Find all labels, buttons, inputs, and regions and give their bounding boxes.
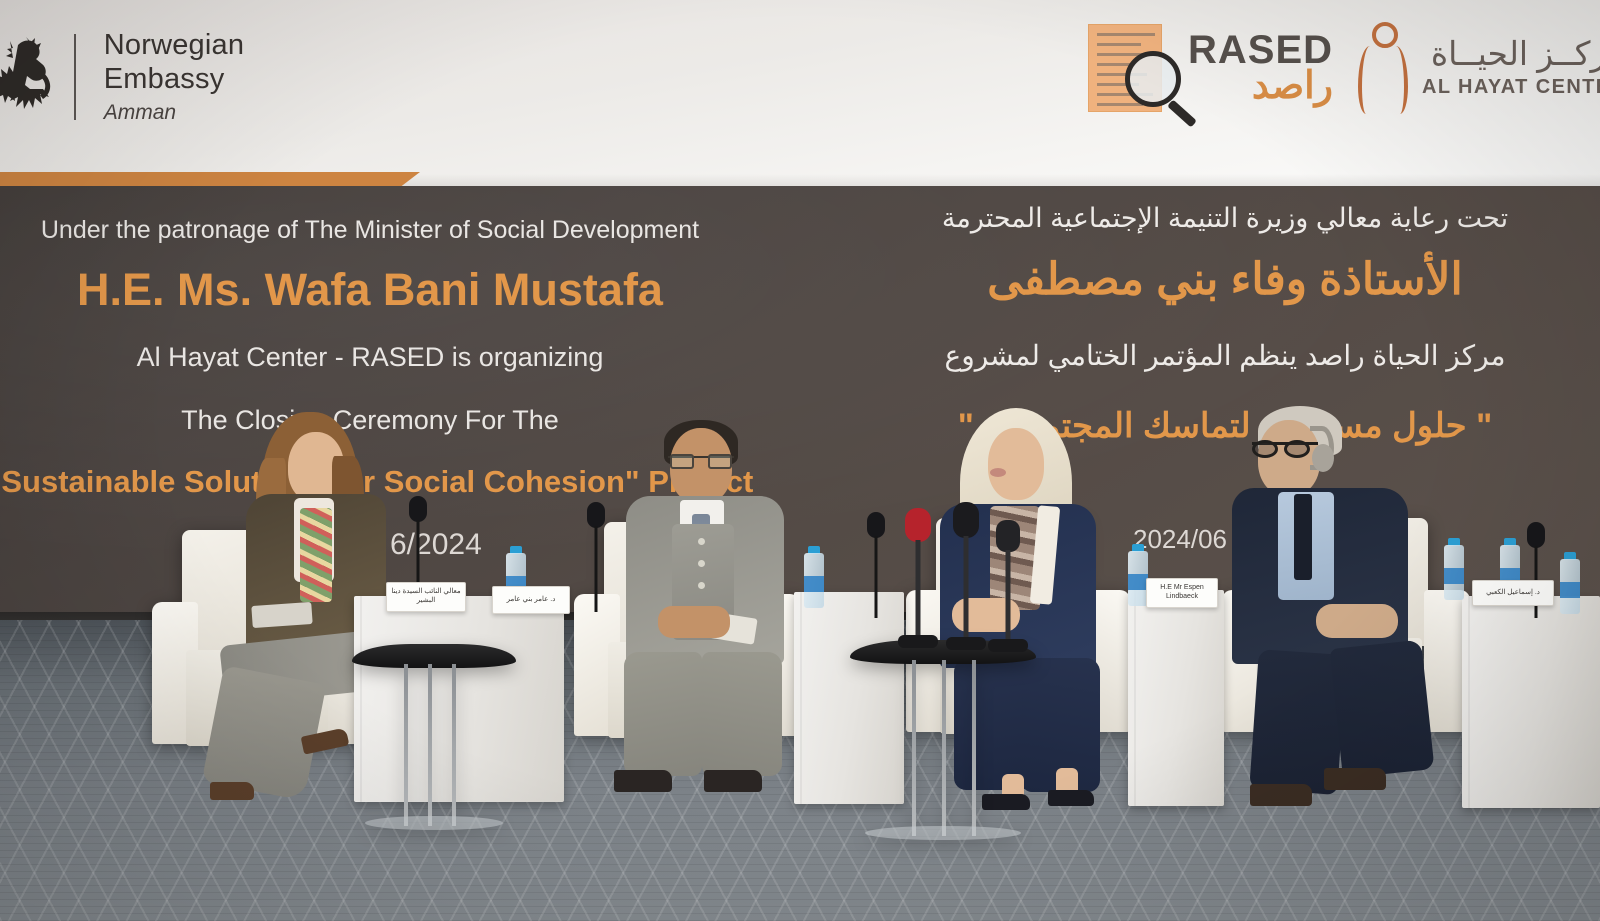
podium-3 [1128,590,1224,806]
norwegian-embassy-city: Amman [104,101,340,125]
conference-photo-stage: Norwegian Embassy Amman RASED راصد مركــ… [0,0,1600,921]
microphone-gooseneck-3 [856,512,896,618]
name-placard-5-text: د. إسماعيل الكعبي [1486,589,1540,598]
name-placard-1: معالي النائب السيدة دينا البشير [386,582,466,612]
name-placard-1-text: معالي النائب السيدة دينا البشير [387,588,465,606]
name-placard-2-text: د. عامر بني عامر [507,596,556,605]
arabic-minister-name: الأستاذة وفاء بني مصطفى [820,254,1600,305]
rased-name-en: RASED [1188,31,1333,69]
stick-figure-icon [1352,20,1412,116]
magnifier-icon [1125,51,1181,107]
arabic-organizer-line: مركز الحياة راصد ينظم المؤتمر الختامي لم… [820,339,1600,372]
water-bottle-4 [1444,538,1464,600]
name-placard-5: د. إسماعيل الكعبي [1472,580,1554,606]
side-table-1 [352,644,516,830]
english-organizer-line: Al Hayat Center - RASED is organizing [0,342,770,373]
water-bottle-3 [1128,544,1148,606]
norwegian-embassy-title: Norwegian Embassy [104,29,340,96]
al-hayat-center-logo: مركــز الحيــاة AL HAYAT CENTER [1352,14,1600,122]
podium-4 [1462,596,1600,808]
norwegian-embassy-logo: Norwegian Embassy Amman [0,22,340,132]
water-bottle-6 [1560,552,1580,614]
microphone-gooseneck-2 [576,502,616,612]
panelist-4-figure [1232,404,1472,814]
rased-document-icon [1088,24,1162,112]
name-placard-4-text: H.E Mr Espen Lindbaeck [1147,584,1217,602]
water-bottle-2 [804,546,824,608]
press-microphone-black-2 [986,520,1030,652]
press-microphone-black-1 [944,502,988,650]
norwegian-lion-crest-icon [0,31,58,123]
english-patronage-line: Under the patronage of The Minister of S… [0,214,770,248]
english-minister-name: H.E. Ms. Wafa Bani Mustafa [0,262,770,318]
al-hayat-name-ar: مركــز الحيــاة [1422,37,1600,72]
al-hayat-name-en: AL HAYAT CENTER [1422,76,1600,99]
name-placard-4: H.E Mr Espen Lindbaeck [1146,578,1218,608]
side-table-2 [850,640,1036,840]
press-microphone-red [896,508,940,648]
rased-logo: RASED راصد [1088,14,1338,122]
name-placard-2: د. عامر بني عامر [492,586,570,614]
logo-divider [74,34,76,120]
rased-name-ar: راصد [1188,67,1333,105]
arabic-patronage-line: تحت رعاية معالي وزيرة التنيمة الإجتماعية… [820,200,1600,238]
